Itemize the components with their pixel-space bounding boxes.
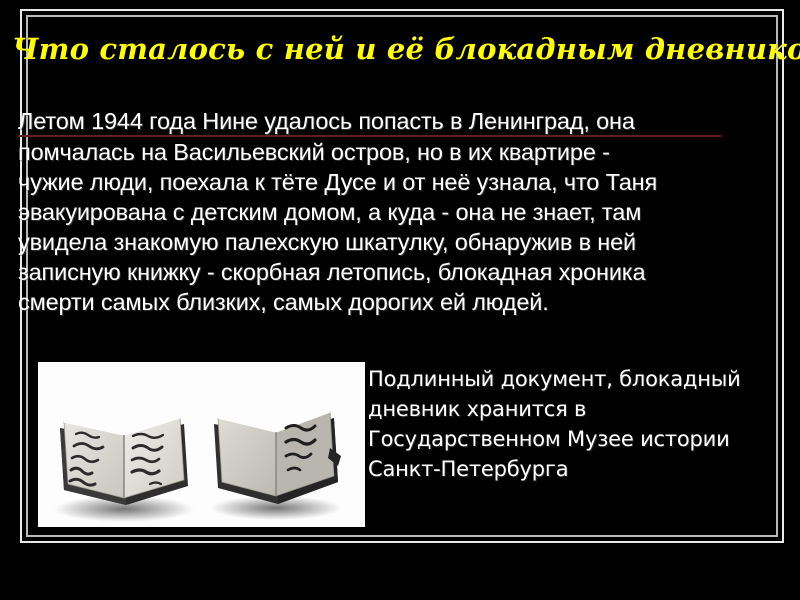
- page-title: Что сталось с ней и её блокадным дневник…: [12, 32, 752, 66]
- caption-line-4: Санкт-Петербурга: [368, 454, 770, 484]
- body-line-5: увидела знакомую палехскую шкатулку, обн…: [18, 227, 758, 257]
- caption-line-2: дневник хранится в: [368, 394, 770, 424]
- caption-line-3: Государственном Музее истории: [368, 424, 770, 454]
- body-line-7: смерти самых близких, самых дорогих ей л…: [18, 287, 758, 317]
- body-paragraph: Летом 1944 года Нине удалось попасть в Л…: [18, 106, 758, 317]
- body-line-3: чужие люди, поехала к тёте Дусе и от неё…: [18, 167, 758, 197]
- caption-line-1: Подлинный документ, блокадный: [368, 364, 770, 394]
- diary-photo: [38, 362, 365, 527]
- body-line-1: Летом 1944 года Нине удалось попасть в Л…: [18, 106, 721, 137]
- photo-caption: Подлинный документ, блокадный дневник хр…: [368, 364, 770, 484]
- body-line-6: записную книжку - скорбная летопись, бло…: [18, 257, 758, 287]
- body-line-4: эвакуирована с детским домом, а куда - о…: [18, 197, 758, 227]
- body-line-2: помчалась на Васильевский остров, но в и…: [18, 137, 758, 167]
- diary-photo-illustration: [38, 362, 365, 527]
- presentation-slide: Что сталось с ней и её блокадным дневник…: [0, 0, 800, 600]
